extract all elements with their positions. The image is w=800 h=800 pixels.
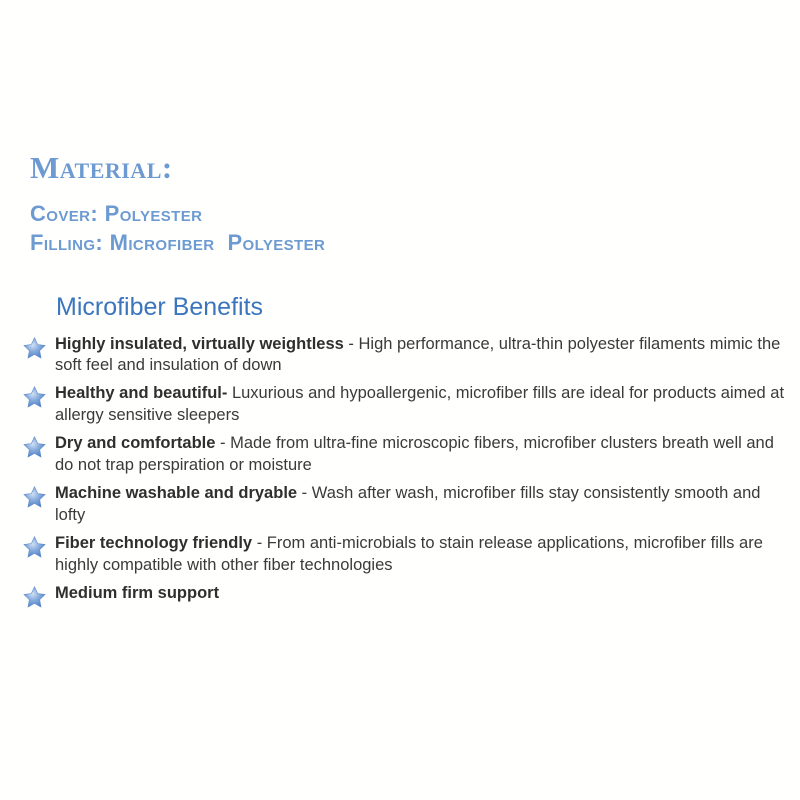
benefit-lead: Healthy and beautiful- xyxy=(55,384,227,402)
list-item: Dry and comfortable - Made from ultra-fi… xyxy=(22,433,794,477)
star-icon xyxy=(22,336,47,361)
material-section: Material: Cover: Polyester Filling: Micr… xyxy=(30,152,325,257)
list-item: Highly insulated, virtually weightless -… xyxy=(22,334,794,378)
material-cover-line: Cover: Polyester xyxy=(30,199,325,228)
benefit-lead: Machine washable and dryable xyxy=(55,484,297,502)
benefit-lead: Fiber technology friendly xyxy=(55,534,252,552)
list-item: Healthy and beautiful- Luxurious and hyp… xyxy=(22,383,794,427)
star-icon xyxy=(22,535,47,560)
benefit-lead: Highly insulated, virtually weightless xyxy=(55,335,344,353)
benefits-heading: Microfiber Benefits xyxy=(56,294,794,322)
star-icon xyxy=(22,385,47,410)
material-filling-line: Filling: Microfiber Polyester xyxy=(30,228,325,257)
star-icon xyxy=(22,485,47,510)
benefit-lead: Medium firm support xyxy=(55,584,219,602)
star-icon xyxy=(22,435,47,460)
material-title: Material: xyxy=(30,152,325,185)
benefits-section: Microfiber Benefits xyxy=(22,294,794,611)
benefits-list: Highly insulated, virtually weightless -… xyxy=(22,334,794,605)
product-description-page: Material: Cover: Polyester Filling: Micr… xyxy=(0,0,800,800)
list-item: Medium firm support xyxy=(22,583,794,605)
star-icon xyxy=(22,585,47,610)
benefit-lead: Dry and comfortable xyxy=(55,434,215,452)
list-item: Machine washable and dryable - Wash afte… xyxy=(22,483,794,527)
list-item: Fiber technology friendly - From anti-mi… xyxy=(22,533,794,577)
